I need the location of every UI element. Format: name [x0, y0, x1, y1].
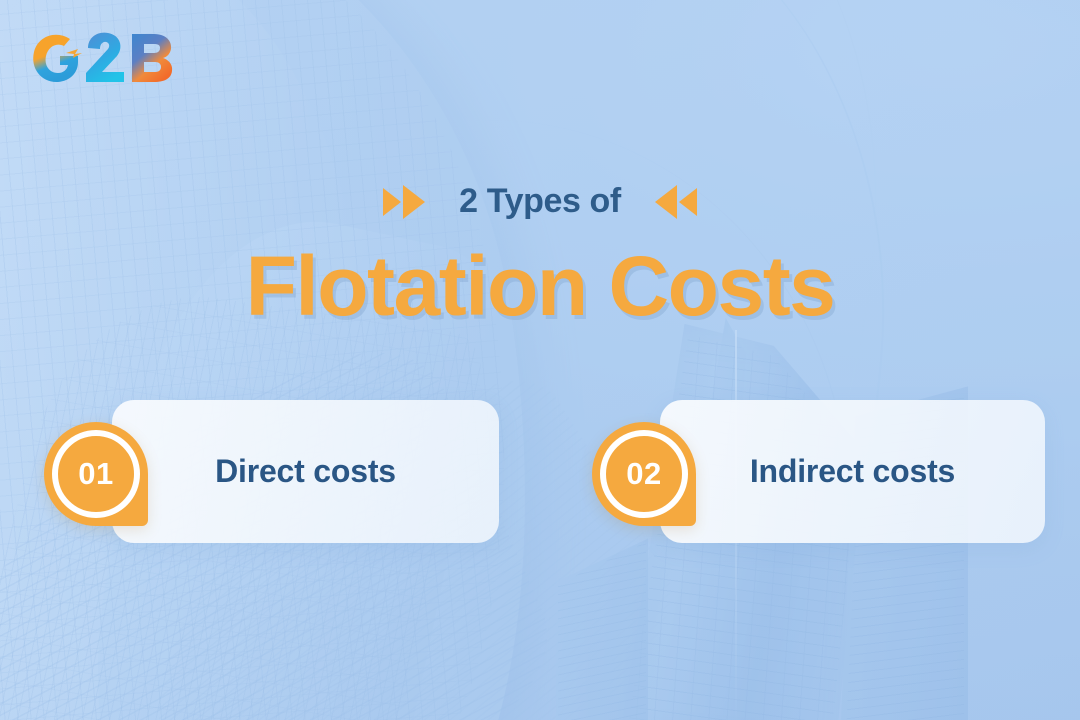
eyebrow-row: 2 Types of — [0, 182, 1080, 221]
type-card-2[interactable]: Indirect costs 02 — [592, 400, 1045, 548]
skyscraper-far-left-windows — [558, 542, 646, 720]
double-left-arrow-icon — [655, 185, 697, 219]
left-triangle-icon-b — [679, 188, 697, 216]
skyscraper-far-left — [556, 539, 648, 720]
type-card-1[interactable]: Direct costs 01 — [44, 400, 499, 548]
curved-building-primary — [0, 0, 600, 720]
blue-color-overlay — [0, 0, 1080, 720]
eyebrow-label: 2 Types of — [459, 182, 621, 221]
curved-building-secondary — [0, 0, 416, 720]
facade-window-grid — [0, 0, 572, 720]
vignette-overlay — [0, 0, 1080, 720]
left-triangle-icon-a — [655, 185, 677, 219]
card-number-1: 01 — [78, 456, 113, 492]
infographic-canvas: 2 Types of Flotation Costs Direct costs … — [0, 0, 1080, 720]
logo-letter-2 — [86, 33, 124, 82]
background-sky — [0, 0, 1080, 720]
card-number-badge-2: 02 — [592, 422, 696, 526]
logo-letter-b — [132, 34, 172, 82]
right-triangle-icon-b — [403, 185, 425, 219]
card-number-badge-1: 01 — [44, 422, 148, 526]
brand-logo[interactable] — [28, 28, 180, 90]
page-title: Flotation Costs — [0, 238, 1080, 335]
double-right-arrow-icon — [383, 185, 425, 219]
card-number-2: 02 — [626, 456, 661, 492]
right-triangle-icon-a — [383, 188, 401, 216]
architectural-sweep-arc-1 — [199, 0, 922, 720]
architectural-sweep-arc-2 — [224, 0, 937, 720]
g2b-logo-icon — [28, 28, 180, 90]
logo-letter-g — [33, 35, 78, 82]
